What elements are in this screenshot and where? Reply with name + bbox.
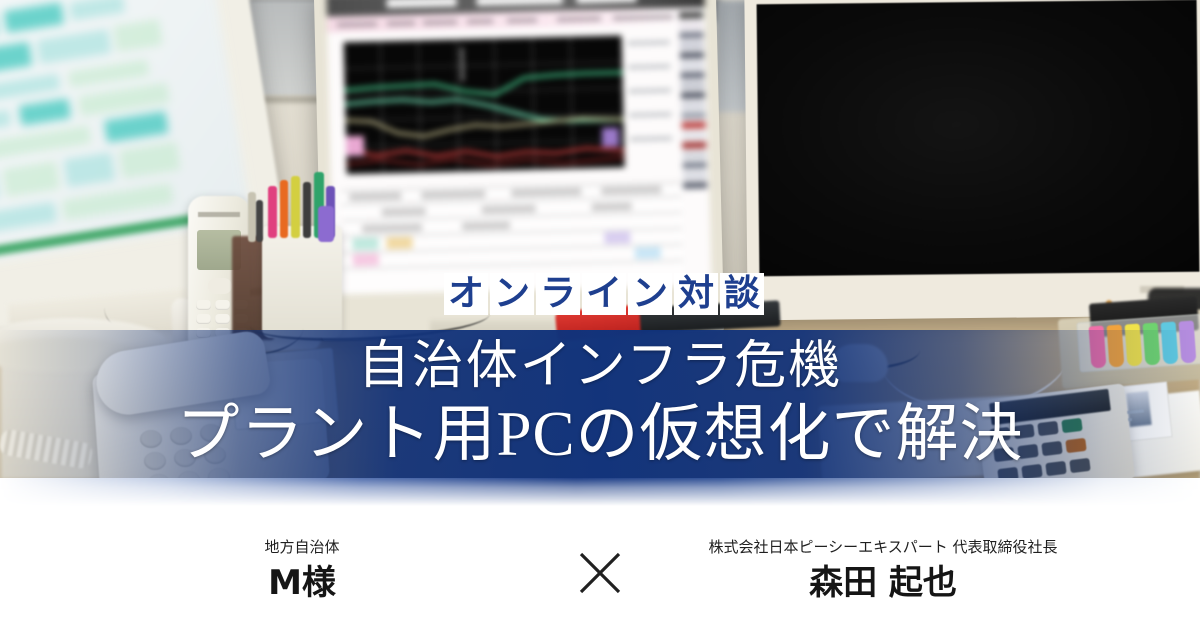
participant-right-name: 森田 起也 bbox=[653, 561, 1113, 605]
participant-left: 地方自治体 M様 bbox=[87, 537, 557, 605]
title-band-fade bbox=[0, 478, 1200, 506]
badge-char-7: 談 bbox=[720, 273, 764, 315]
badge-char-4: イ bbox=[582, 273, 626, 315]
online-taidan-banner: オ ン ラ イ ン 対 談 自治体インフラ危機 プラント用PCの仮想化で解決 地… bbox=[0, 0, 1200, 635]
participant-left-organization: 地方自治体 bbox=[87, 537, 517, 557]
scada-trend-plot bbox=[344, 35, 625, 174]
banner-title: 自治体インフラ危機 プラント用PCの仮想化で解決 bbox=[0, 336, 1200, 470]
badge-char-5: ン bbox=[628, 273, 672, 315]
right-monitor-screen bbox=[757, 0, 1200, 276]
online-taidan-badge: オ ン ラ イ ン 対 談 bbox=[444, 273, 764, 315]
title-line-1: 自治体インフラ危機 bbox=[0, 336, 1200, 398]
center-monitor-screen bbox=[326, 0, 711, 295]
badge-char-3: ラ bbox=[536, 273, 580, 315]
cordless-phone-brand-label bbox=[198, 212, 240, 217]
badge-char-1: オ bbox=[444, 273, 488, 315]
participants-footer: 地方自治体 M様 株式会社日本ピーシーエキスパート 代表取締役社長 森田 起也 bbox=[0, 506, 1200, 635]
badge-char-2: ン bbox=[490, 273, 534, 315]
cross-divider-icon bbox=[557, 550, 643, 596]
participant-right: 株式会社日本ピーシーエキスパート 代表取締役社長 森田 起也 bbox=[643, 537, 1113, 605]
participant-left-name: M様 bbox=[87, 561, 517, 605]
title-line-2: プラント用PCの仮想化で解決 bbox=[0, 398, 1200, 470]
participant-right-organization: 株式会社日本ピーシーエキスパート 代表取締役社長 bbox=[653, 537, 1113, 557]
badge-char-6: 対 bbox=[674, 273, 718, 315]
